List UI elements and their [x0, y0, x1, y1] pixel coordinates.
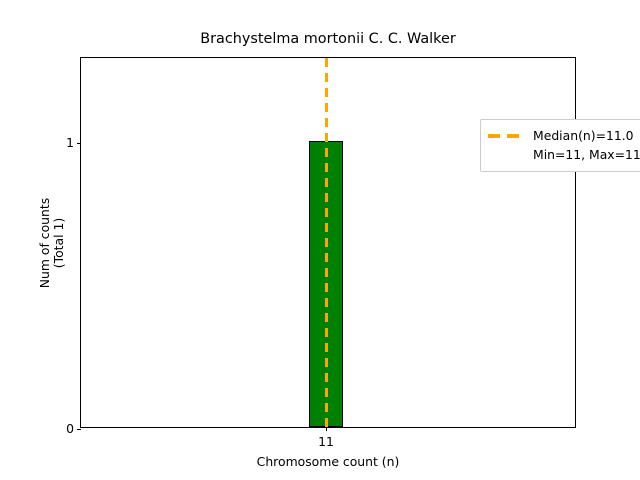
- y-axis-tick-label-0: 0: [66, 423, 74, 435]
- y-axis-tick-label-1: 1: [66, 137, 74, 149]
- y-axis-tick-mark: [77, 429, 81, 430]
- legend-box: Median(n)=11.0 Min=11, Max=11: [480, 119, 640, 172]
- y-axis-label-line-2: (Total 1): [52, 217, 66, 267]
- legend-item-minmax-label: Min=11, Max=11: [533, 147, 640, 162]
- x-axis-tick-label-11: 11: [318, 435, 334, 448]
- x-axis-tick-mark: [326, 427, 327, 431]
- blank-marker-icon: [488, 153, 524, 157]
- y-axis-label-line-1: Num of counts: [38, 197, 52, 287]
- y-axis-label: Num of counts (Total 1): [0, 57, 72, 428]
- legend-item-median-label: Median(n)=11.0: [533, 128, 634, 143]
- plot-area: [81, 58, 575, 427]
- legend-item-median: Median(n)=11.0: [488, 126, 640, 145]
- dashed-line-icon: [488, 134, 524, 138]
- plot-axes: 0 1 11 Median(n)=11.0 Min=11, Max=11: [80, 57, 576, 428]
- x-axis-label: Chromosome count (n): [80, 455, 576, 469]
- page-title: Brachystelma mortonii C. C. Walker: [80, 31, 576, 48]
- legend-item-minmax: Min=11, Max=11: [488, 145, 640, 164]
- y-axis-tick-mark: [77, 143, 81, 144]
- figure-canvas: Brachystelma mortonii C. C. Walker Num o…: [0, 0, 640, 480]
- median-reference-line: [325, 58, 328, 427]
